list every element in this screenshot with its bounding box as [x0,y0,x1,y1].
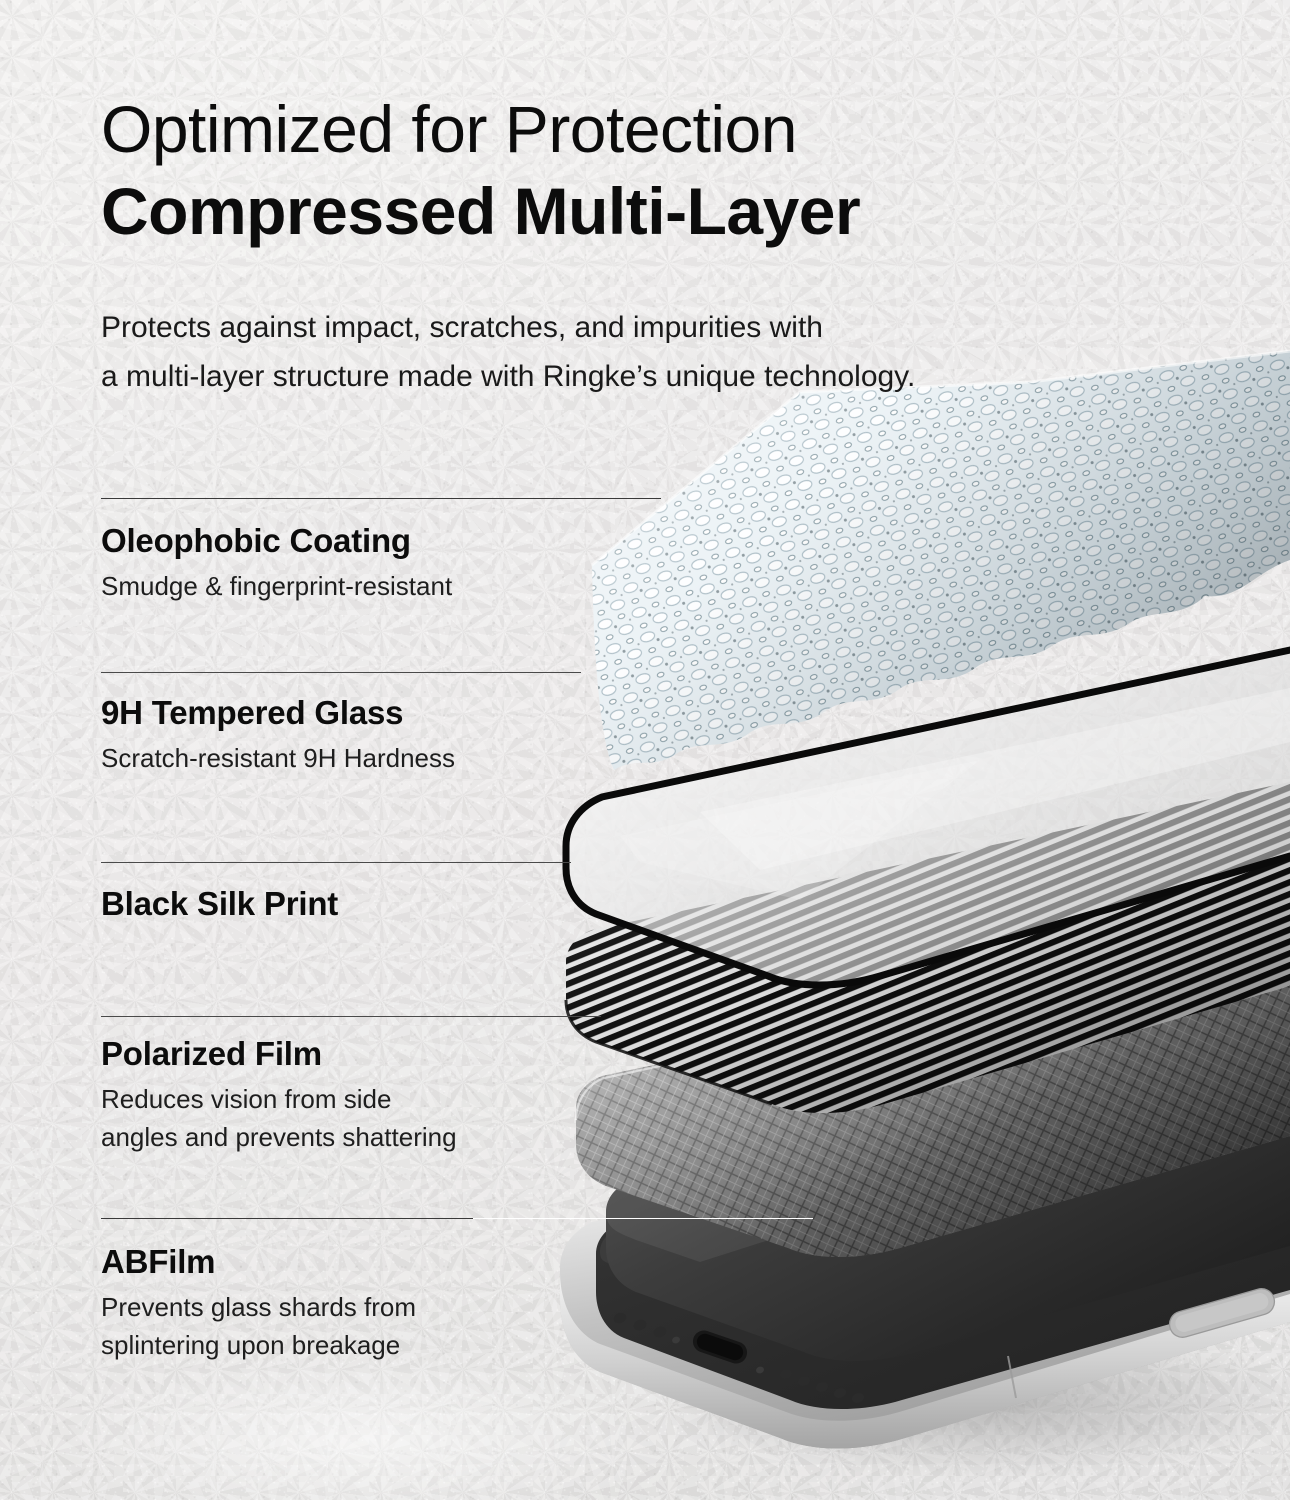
feature-description-line-2: splintering upon breakage [101,1326,416,1364]
feature-polarized-film: Polarized Film Reduces vision from side … [101,1035,457,1156]
feature-description: Scratch-resistant 9H Hardness [101,739,455,777]
divider-oleophobic-coating [101,498,661,499]
feature-description-line-1: Reduces vision from side [101,1080,457,1118]
page-title-line-1: Optimized for Protection [101,96,797,162]
feature-description: Smudge & fingerprint-resistant [101,567,452,605]
feature-black-silk-print: Black Silk Print [101,885,338,924]
feature-title: 9H Tempered Glass [101,694,455,733]
page-subtitle-line-2: a multi-layer structure made with Ringke… [101,352,915,401]
feature-description-line-2: angles and prevents shattering [101,1118,457,1156]
feature-title: Polarized Film [101,1035,457,1074]
feature-tempered-glass: 9H Tempered Glass Scratch-resistant 9H H… [101,694,455,777]
divider-polarized-film [101,1016,601,1017]
feature-description-line-1: Prevents glass shards from [101,1288,416,1326]
page-subtitle-line-1: Protects against impact, scratches, and … [101,303,915,352]
feature-abfilm: ABFilm Prevents glass shards from splint… [101,1243,416,1364]
feature-title: Oleophobic Coating [101,522,452,561]
feature-oleophobic-coating: Oleophobic Coating Smudge & fingerprint-… [101,522,452,605]
divider-tempered-glass [101,672,581,673]
page-subtitle: Protects against impact, scratches, and … [101,303,915,401]
content-column: Optimized for Protection Compressed Mult… [0,0,1290,1500]
feature-title: Black Silk Print [101,885,338,924]
page-title-line-2: Compressed Multi-Layer [101,178,860,244]
divider-abfilm [101,1218,473,1219]
divider-black-silk-print [101,862,571,863]
divider-abfilm-overlay [473,1218,813,1219]
infographic-root: Optimized for Protection Compressed Mult… [0,0,1290,1500]
feature-title: ABFilm [101,1243,416,1282]
